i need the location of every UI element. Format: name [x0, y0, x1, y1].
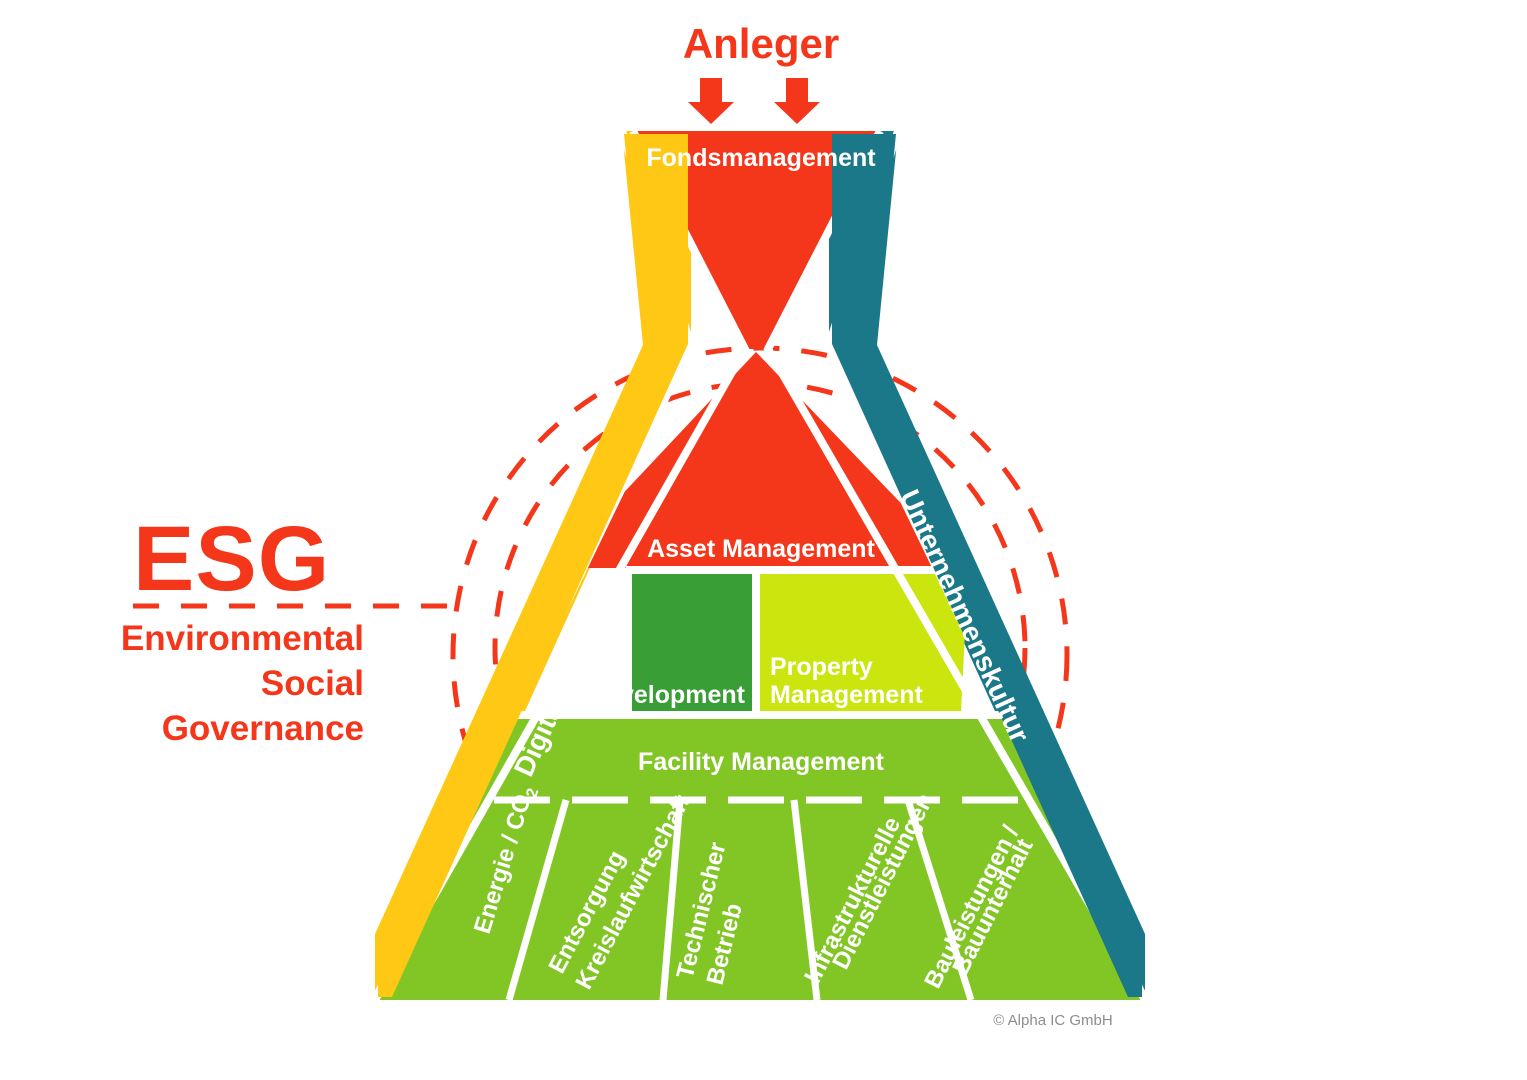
esg-line-social: Social: [261, 664, 364, 703]
label-facility-management: Facility Management: [638, 748, 885, 776]
investor-arrows: [688, 78, 820, 124]
esg-acronym: ESG: [133, 508, 330, 610]
pyramid-svg: Anleger ESG Environmental Social Governa…: [0, 0, 1527, 1080]
label-property: Property: [770, 653, 873, 681]
diagram-canvas: Anleger ESG Environmental Social Governa…: [0, 0, 1527, 1080]
investor-label: Anleger: [683, 20, 839, 67]
label-asset-management: Asset Management: [647, 535, 876, 563]
copyright-label: © Alpha IC GmbH: [993, 1012, 1112, 1029]
down-arrow-left-icon: [688, 78, 734, 124]
label-development: Development: [588, 681, 746, 709]
esg-line-environmental: Environmental: [121, 619, 364, 658]
label-fondsmanagement: Fondsmanagement: [646, 144, 876, 172]
down-arrow-right-icon: [774, 78, 820, 124]
label-property-management: Management: [770, 681, 923, 709]
esg-line-governance: Governance: [162, 709, 364, 748]
